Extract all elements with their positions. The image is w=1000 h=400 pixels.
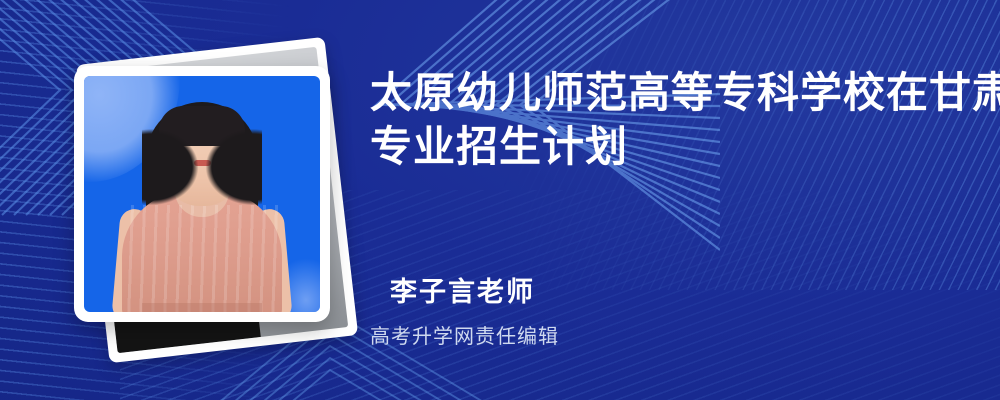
page-title: 太原幼儿师范高等专科学校在甘肃 专业招生计划 xyxy=(370,66,960,174)
page-title-line-2: 专业招生计划 xyxy=(370,120,960,174)
banner-text-content: 太原幼儿师范高等专科学校在甘肃 专业招生计划 李子言老师 高考升学网责任编辑 xyxy=(370,0,970,400)
page-title-line-1: 太原幼儿师范高等专科学校在甘肃 xyxy=(370,66,960,120)
portrait-hair-front xyxy=(142,107,262,257)
portrait-dress-waist xyxy=(142,303,262,312)
author-role: 高考升学网责任编辑 xyxy=(370,320,559,349)
portrait-figure xyxy=(84,76,320,312)
author-name: 李子言老师 xyxy=(390,270,535,309)
banner-card: 太原幼儿师范高等专科学校在甘肃 专业招生计划 李子言老师 高考升学网责任编辑 xyxy=(0,0,1000,400)
photo-stack xyxy=(44,40,364,360)
author-portrait-photo xyxy=(84,76,320,312)
photo-card-front xyxy=(74,66,330,322)
